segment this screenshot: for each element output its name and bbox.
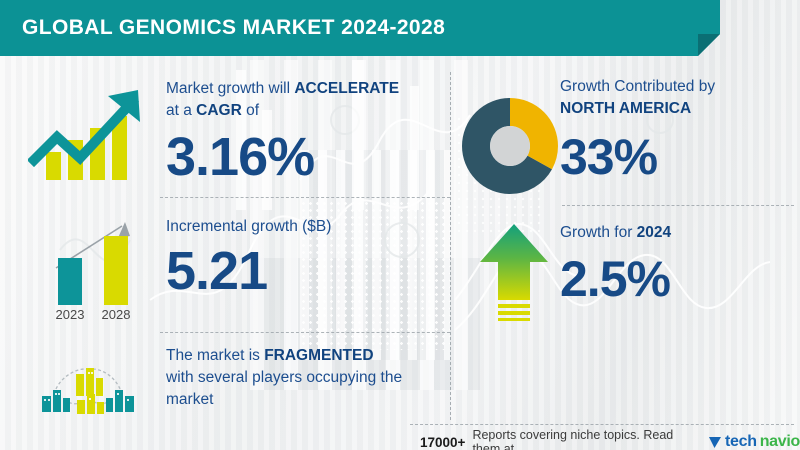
panel-cagr: Market growth will ACCELERATE at a CAGR …	[166, 78, 446, 184]
panel-growth-2024: Growth for 2024 2.5%	[560, 222, 796, 304]
cagr-text-3: of	[242, 102, 259, 119]
infographic-canvas: GLOBAL GENOMICS MARKET 2024-2028 Market …	[0, 0, 800, 450]
bar-label-2028: 2028	[102, 307, 131, 322]
bar-label-2023: 2023	[56, 307, 85, 322]
cagr-text-cagr: CAGR	[196, 102, 242, 119]
divider-cagr-incremental	[160, 197, 450, 198]
footer-text: Reports covering niche topics. Read them…	[472, 428, 687, 450]
north-america-label: Growth Contributed by NORTH AMERICA	[560, 76, 796, 120]
cagr-text-2: at a	[166, 102, 196, 119]
fragmented-text-2: with several players occupying the marke…	[166, 369, 402, 408]
header-banner: GLOBAL GENOMICS MARKET 2024-2028	[0, 0, 720, 56]
donut-chart-icon	[462, 98, 558, 199]
panel-north-america: Growth Contributed by NORTH AMERICA 33%	[560, 76, 796, 182]
divider-footer	[410, 424, 794, 425]
fragmented-text-bold: FRAGMENTED	[264, 347, 373, 364]
cagr-text-1: Market growth will	[166, 80, 294, 97]
logo-text-tech: tech	[725, 433, 757, 450]
cagr-value: 3.16%	[166, 130, 446, 184]
panel-fragmented-market: The market is FRAGMENTED with several pl…	[166, 345, 451, 411]
na-text-bold: NORTH AMERICA	[560, 100, 691, 117]
panel-incremental-growth: Incremental growth ($B) 5.21	[166, 216, 446, 298]
g2024-text-1: Growth for	[560, 224, 637, 241]
growth-arrow-chart-icon	[28, 82, 146, 187]
incremental-value: 5.21	[166, 244, 446, 298]
cagr-text-accelerate: ACCELERATE	[294, 80, 399, 97]
up-arrow-icon	[478, 222, 550, 327]
incremental-label: Incremental growth ($B)	[166, 216, 446, 238]
growth-2024-label: Growth for 2024	[560, 222, 796, 244]
divider-incremental-fragmented	[160, 332, 450, 333]
g2024-text-bold: 2024	[637, 224, 671, 241]
logo-text-navio: navio	[760, 433, 800, 450]
page-title: GLOBAL GENOMICS MARKET 2024-2028	[22, 16, 445, 40]
fragmented-market-buildings-icon	[30, 354, 142, 421]
bar-2023	[58, 258, 82, 305]
fragmented-label: The market is FRAGMENTED with several pl…	[166, 345, 451, 411]
technavio-logo[interactable]: technavio	[708, 433, 800, 450]
na-text-1: Growth Contributed by	[560, 78, 715, 95]
divider-northamerica-growth2024	[562, 205, 794, 206]
up-arrow-shape	[480, 224, 548, 300]
fragmented-text-1: The market is	[166, 347, 264, 364]
bar-2028	[104, 236, 128, 305]
north-america-value: 33%	[560, 132, 796, 182]
footer: 17000+ Reports covering niche topics. Re…	[420, 428, 800, 450]
growth-2024-value: 2.5%	[560, 254, 796, 304]
triangle-arrow-icon	[708, 435, 722, 450]
bar-chart-growth-icon: 2023 2028	[26, 210, 146, 327]
donut-hole	[490, 126, 530, 166]
report-count: 17000+	[420, 435, 465, 450]
cagr-label: Market growth will ACCELERATE at a CAGR …	[166, 78, 446, 122]
